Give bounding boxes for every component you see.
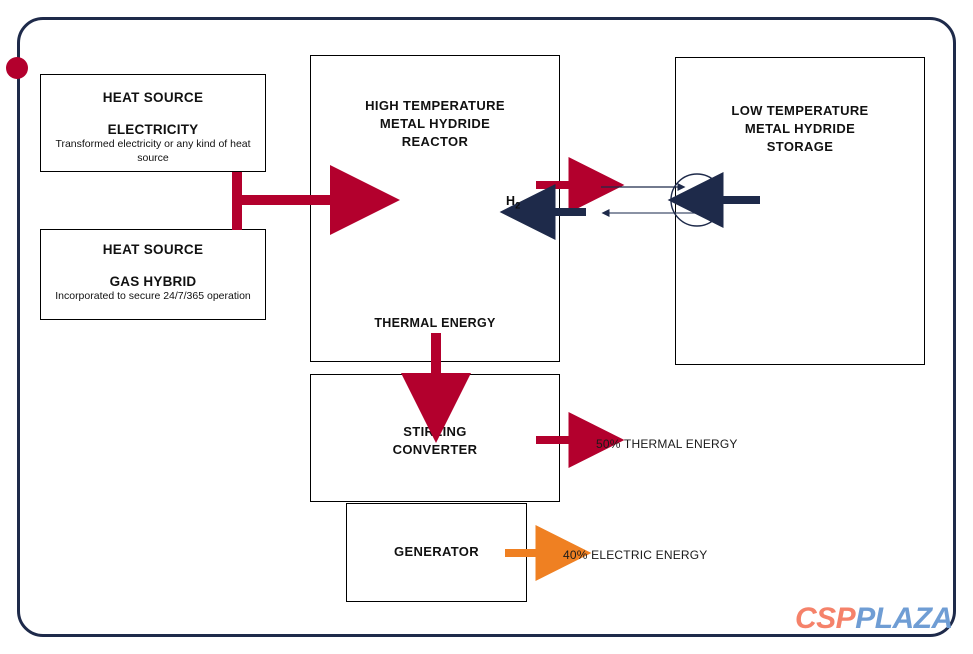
block-subtitle: ELECTRICITY [41,122,265,137]
block-generator: GENERATOR [346,503,527,602]
h2-flow-label: H2 [506,194,520,211]
block-label: HIGH TEMPERATUREMETAL HYDRIDEREACTOR [311,97,559,152]
watermark-csp: CSP [795,602,855,635]
block-heat-source-gas-hybrid: HEAT SOURCE GAS HYBRID Incorporated to s… [40,229,266,320]
diagram-canvas: HEAT SOURCE ELECTRICITY Transformed elec… [0,0,973,654]
block-description: Transformed electricity or any kind of h… [41,138,265,165]
block-label: GENERATOR [347,543,526,561]
thermal-output-label: 50% THERMAL ENERGY [596,437,738,451]
corner-dot-marker [6,57,28,79]
block-low-temperature-storage: LOW TEMPERATUREMETAL HYDRIDESTORAGE [675,57,925,365]
watermark-plaza: PLAZA [855,602,953,635]
block-label: LOW TEMPERATUREMETAL HYDRIDESTORAGE [676,102,924,157]
block-title: HEAT SOURCE [41,241,265,259]
h2-symbol: H [506,194,515,208]
block-heat-source-electricity: HEAT SOURCE ELECTRICITY Transformed elec… [40,74,266,172]
block-description: Incorporated to secure 24/7/365 operatio… [41,290,265,303]
h2-subscript: 2 [515,201,520,211]
watermark-logo: CSPPLAZA [795,604,953,634]
block-stirling-converter: STIRLINGCONVERTER [310,374,560,502]
block-label: STIRLINGCONVERTER [311,423,559,459]
block-high-temperature-reactor: HIGH TEMPERATUREMETAL HYDRIDEREACTOR THE… [310,55,560,362]
block-subtitle: GAS HYBRID [41,274,265,289]
block-title: HEAT SOURCE [41,89,265,107]
thermal-energy-label: THERMAL ENERGY [311,316,559,330]
electric-output-label: 40% ELECTRIC ENERGY [563,548,708,562]
